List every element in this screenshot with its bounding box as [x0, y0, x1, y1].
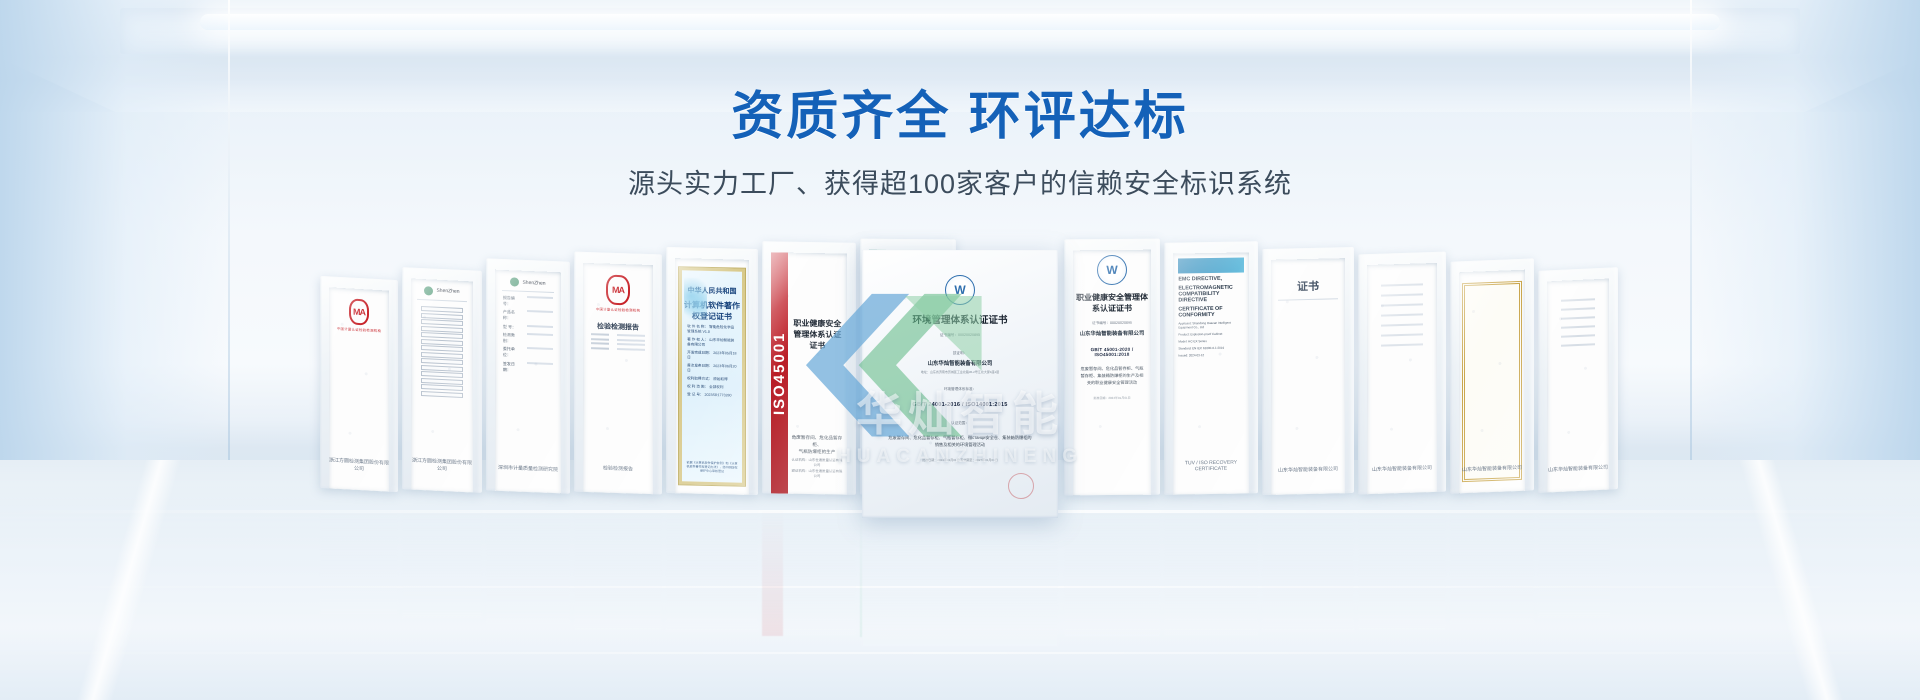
- certificate-paper: 中华人民共和国 计算机软件著作权登记证书 软 件 名 称： 智能危险化学品管理系…: [675, 258, 749, 495]
- certificate-frame-cert-iso45001[interactable]: ISO45001 职业健康安全管理体系认证证书危废暂存间、危化品暂存柜、气瓶防爆…: [762, 241, 856, 494]
- certificate-reflection: [486, 497, 570, 625]
- certificate-paper: 山东华灿智能装备有限公司: [1459, 270, 1525, 494]
- floor-highlight-left: [0, 460, 300, 700]
- certificate-paper: EMC DIRECTIVE,ELECTROMAGNETIC COMPATIBIL…: [1173, 252, 1249, 494]
- field-row: 软 件 名 称： 智能危险化学品管理系统 V1.0: [687, 324, 737, 335]
- certificate-frame-cert-cma-right[interactable]: MA中国计量认证检验检测机构检验检测报告检验检测报告: [574, 252, 662, 495]
- certificate-frame-cert-ce-emc[interactable]: EMC DIRECTIVE,ELECTROMAGNETIC COMPATIBIL…: [1164, 241, 1258, 494]
- ornament-decoration: [684, 277, 707, 324]
- certificate-frame-cert-honor-right-4[interactable]: 山东华灿智能装备有限公司: [1538, 267, 1618, 493]
- certificate-reflection: [666, 497, 758, 632]
- certificate-reflection: [1450, 497, 1534, 625]
- ceiling-light-strip: [200, 14, 1720, 30]
- certificate-title: 职业健康安全管理体系认证证书: [791, 318, 844, 352]
- certificate-paper: W环境管理体系认证证书证书编号：00020020895兹证明：山东华灿智能装备有…: [873, 275, 1047, 462]
- certificate-footer: TUV / ISO RECOVERY CERTIFICATE: [1173, 460, 1249, 473]
- certificate-frame-cert-test-report[interactable]: ShenZhen报告编号：产品名称：型 号：检测类别：委托单位：签发日期：深圳市…: [486, 258, 570, 493]
- paper-watermark: [1173, 252, 1249, 494]
- certificate-footer: 依据《计算机软件保护条例》和《计算机软件著作权登记办法》，经中国版权保护中心审核…: [685, 461, 738, 474]
- certificate-issuer: 认证机构：山东世通质量认证有限公司颁证机构：山东世通质量认证有限公司: [791, 458, 843, 481]
- certificate-frame-cert-inspection-spec[interactable]: ShenZhen浙江方圆检测集团股份有限公司: [402, 267, 482, 493]
- certificate-reflection: [574, 497, 662, 629]
- banner-stage: 资质齐全 环评达标 源头实力工厂、获得超100家客户的信赖安全标识系统 MA中国…: [0, 0, 1920, 700]
- certificate-paper: MA中国计量认证检验检测机构检验检测报告检验检测报告: [583, 263, 653, 494]
- certificate-paper: 山东华灿智能装备有限公司: [1367, 263, 1437, 494]
- floor-highlight-right: [1620, 460, 1920, 700]
- certificate-paper: 证书山东华灿智能装备有限公司: [1271, 258, 1345, 495]
- copyright-certificate-body: 中华人民共和国 计算机软件著作权登记证书 软 件 名 称： 智能危险化学品管理系…: [679, 268, 746, 486]
- certificate-reflection: [1262, 497, 1354, 632]
- certificate-frame-cert-software-copyright[interactable]: 中华人民共和国 计算机软件著作权登记证书 软 件 名 称： 智能危险化学品管理系…: [666, 247, 758, 495]
- paper-watermark: [583, 263, 653, 494]
- paper-watermark: [1367, 263, 1437, 494]
- certificate-frame-cert-honor-right-2[interactable]: 山东华灿智能装备有限公司: [1358, 252, 1446, 495]
- band-corner-highlight: [771, 252, 796, 315]
- center-certificate-reflection: [862, 497, 1058, 647]
- paper-watermark: [1073, 250, 1151, 496]
- field-row: 登 记 号： 2023SR1773280: [687, 393, 737, 399]
- right-wall-edge: [1690, 0, 1692, 470]
- certificate-frame-cert-honor-right-1[interactable]: 证书山东华灿智能装备有限公司: [1262, 247, 1354, 495]
- certificate-paper: ISO45001 职业健康安全管理体系认证证书危废暂存间、危化品暂存柜、气瓶防爆…: [771, 252, 847, 494]
- certificate-paper: MA中国计量认证检验检测机构浙江方圆检测集团股份有限公司: [329, 287, 389, 491]
- certificate-reflection: [1164, 497, 1258, 636]
- certificate-reflection: [320, 497, 398, 614]
- paper-watermark: [1459, 270, 1525, 494]
- certificate-paper: W职业健康安全管理体系认证证书证书编号：00020020895山东华灿智能装备有…: [1073, 250, 1151, 496]
- certificate-frame-cert-ohs-system[interactable]: W职业健康安全管理体系认证证书证书编号：00020020895山东华灿智能装备有…: [1064, 239, 1160, 496]
- field-row: 权 利 范 围： 全部权利: [687, 385, 737, 391]
- certificate-reflection: [1358, 497, 1446, 629]
- field-row: 著 作 权 人： 山东华灿智能装备有限公司: [687, 337, 737, 348]
- certificate-reflection: [1538, 497, 1618, 619]
- certificate-paper: ShenZhen浙江方圆检测集团股份有限公司: [411, 279, 473, 493]
- certificate-frame-cert-cma-left[interactable]: MA中国计量认证检验检测机构浙江方圆检测集团股份有限公司: [320, 276, 398, 492]
- paper-watermark: [1271, 258, 1345, 495]
- certificate-wall: MA中国计量认证检验检测机构浙江方圆检测集团股份有限公司ShenZhen浙江方圆…: [310, 228, 1610, 496]
- certificate-reflection-accent: [762, 497, 783, 636]
- field-row: 首次发表日期： 2023年06月20日: [687, 363, 737, 374]
- field-row: 权利取得方式： 原始取得: [687, 377, 737, 383]
- certificate-reflection: [1064, 497, 1160, 637]
- certificate-frame-cert-honor-right-3[interactable]: 山东华灿智能装备有限公司: [1450, 258, 1534, 493]
- certificate-reflection: [402, 497, 482, 619]
- page-subtitle: 源头实力工厂、获得超100家客户的信赖安全标识系统: [0, 162, 1920, 201]
- field-row: 开发完成日期： 2023年05月18日: [687, 350, 737, 361]
- iso-standard-label: ISO45001: [771, 331, 788, 415]
- certificate-footer: 浙江方圆检测集团股份有限公司: [411, 457, 473, 474]
- certificate-frame-center-environmental[interactable]: W环境管理体系认证证书证书编号：00020020895兹证明：山东华灿智能装备有…: [862, 250, 1058, 518]
- certificate-paper: 山东华灿智能装备有限公司: [1547, 279, 1609, 493]
- paper-watermark: [495, 270, 561, 494]
- iso-side-band: ISO45001: [771, 252, 788, 493]
- page-title: 资质齐全 环评达标: [0, 88, 1920, 146]
- certificate-paper: ShenZhen报告编号：产品名称：型 号：检测类别：委托单位：签发日期：深圳市…: [495, 270, 561, 494]
- banner-headings: 资质齐全 环评达标 源头实力工厂、获得超100家客户的信赖安全标识系统: [0, 88, 1920, 201]
- paper-watermark: [1547, 279, 1609, 493]
- certificate-scope: 危废暂存间、危化品暂存柜、气瓶防爆柜的生产: [791, 434, 843, 455]
- left-wall-edge: [228, 0, 230, 470]
- certificate-wall-reflection: [310, 497, 1610, 647]
